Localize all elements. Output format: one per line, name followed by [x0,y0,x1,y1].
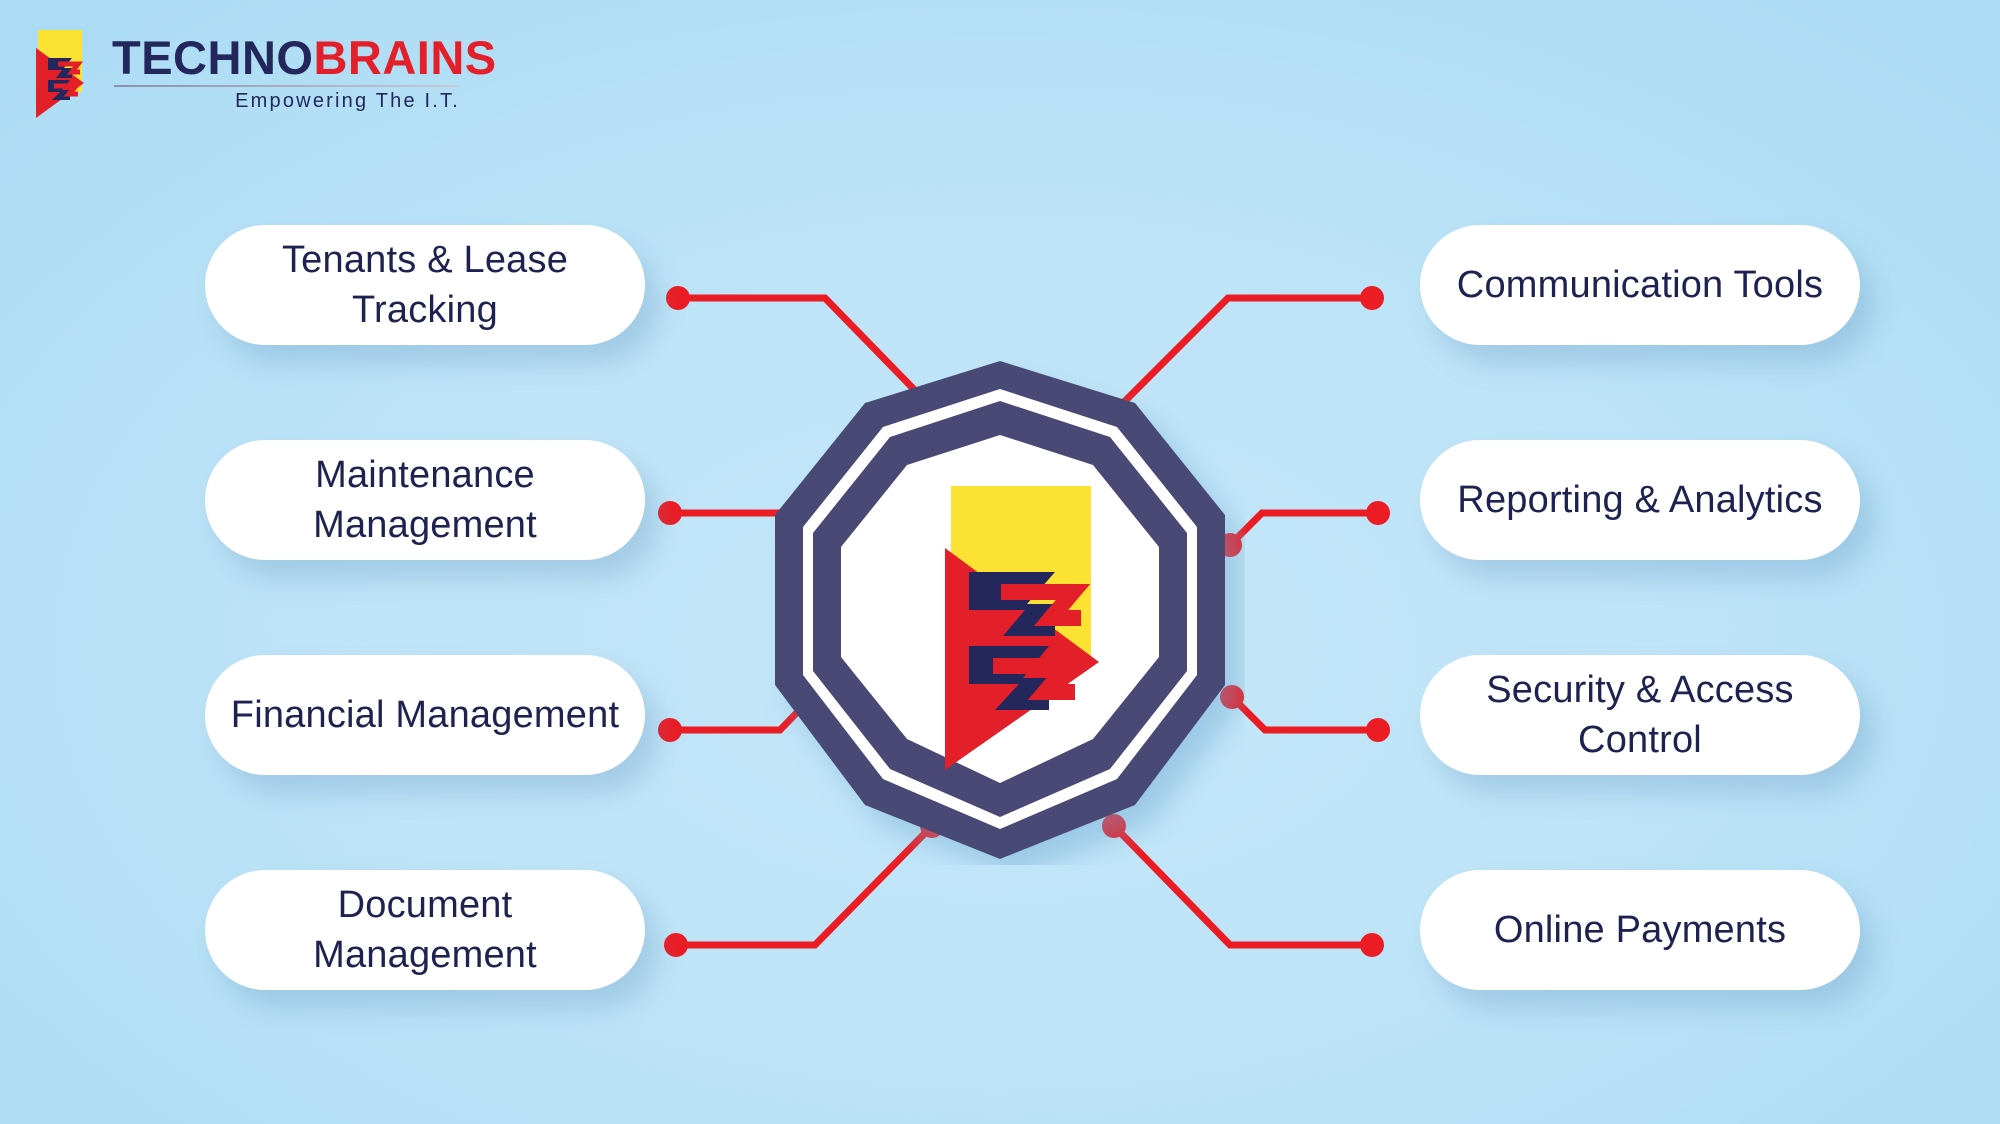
center-emblem [755,355,1245,865]
feature-card-security-access-control[interactable]: Security & Access Control [1420,655,1860,775]
technobrains-logo-mark-icon [28,28,90,120]
connector-dot-left-1-outer [666,286,690,310]
feature-card-label: Maintenance Management [205,450,645,550]
connector-dot-left-2-outer [658,501,682,525]
logo-tagline: Empowering The I.T. [114,90,460,113]
feature-card-communication-tools[interactable]: Communication Tools [1420,225,1860,345]
feature-card-tenants-lease-tracking[interactable]: Tenants & Lease Tracking [205,225,645,345]
feature-card-label: Tenants & Lease Tracking [205,235,645,335]
connector-dot-left-4-outer [664,933,688,957]
brand-logo: TECHNOBRAINS Empowering The I.T. [28,28,448,123]
logo-word-techno: TECHNO [112,31,313,84]
feature-card-financial-management[interactable]: Financial Management [205,655,645,775]
feature-card-maintenance-management[interactable]: Maintenance Management [205,440,645,560]
connector-right-3 [1232,697,1378,730]
connector-dot-right-3-outer [1366,718,1390,742]
logo-word-brains: BRAINS [313,31,496,84]
feature-card-label: Financial Management [213,690,637,740]
connector-right-2 [1230,513,1378,545]
connector-dot-right-4-outer [1360,933,1384,957]
feature-card-online-payments[interactable]: Online Payments [1420,870,1860,990]
feature-card-reporting-analytics[interactable]: Reporting & Analytics [1420,440,1860,560]
feature-card-label: Reporting & Analytics [1439,475,1840,525]
connector-dot-right-1-outer [1360,286,1384,310]
connector-dot-left-3-outer [658,718,682,742]
feature-card-label: Security & Access Control [1420,665,1860,765]
feature-card-label: Communication Tools [1439,260,1841,310]
feature-card-label: Online Payments [1476,905,1804,955]
connector-dot-right-2-outer [1366,501,1390,525]
feature-card-label: Document Management [205,880,645,980]
feature-card-document-management[interactable]: Document Management [205,870,645,990]
logo-divider [114,85,460,87]
technobrains-logo-mark-icon-center [923,480,1118,775]
